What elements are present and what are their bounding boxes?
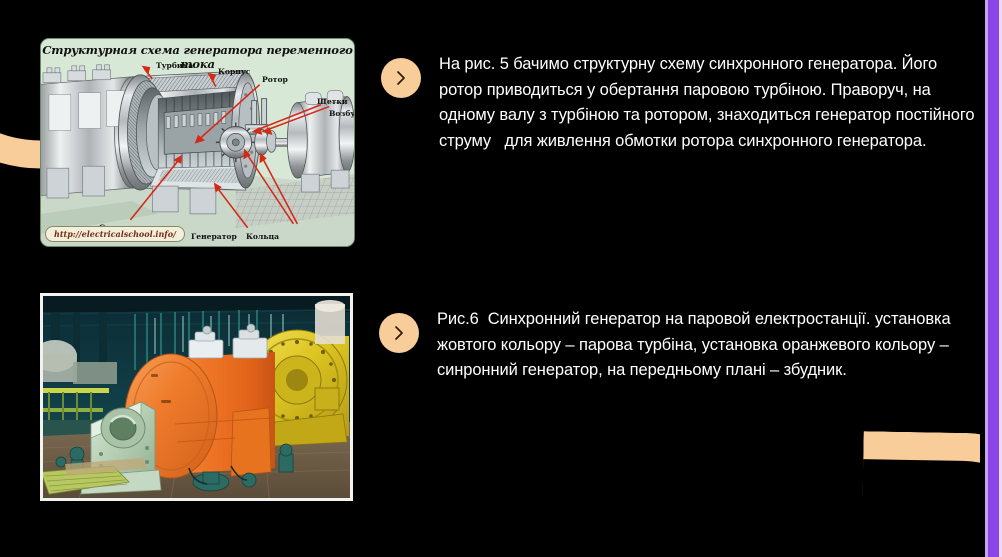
diagram-label-rings: Кольца xyxy=(246,232,279,241)
diagram-label-generator: Генератор xyxy=(191,232,237,241)
content-block-1: Структурная схема генератора переменного… xyxy=(40,38,984,247)
diagram-title: Структурная схема генератора переменного… xyxy=(41,43,354,71)
vertical-scrollbar[interactable] xyxy=(980,0,1002,557)
chevron-right-icon-2[interactable] xyxy=(379,313,419,353)
chevron-right-icon[interactable] xyxy=(381,58,421,98)
diagram-label-brushes: Щетки xyxy=(317,97,347,106)
paragraph-2: Рис.6 Синхронний генератор на паровой ел… xyxy=(437,307,982,384)
diagram-source-url: http://electricalschool.info/ xyxy=(45,226,185,242)
paragraph-1: На рис. 5 бачимо структурну схему синхро… xyxy=(439,52,984,154)
diagram-label-rotor: Ротор xyxy=(262,75,288,84)
figure-generator-diagram: Структурная схема генератора переменного… xyxy=(40,38,355,247)
scrollbar-thumb[interactable] xyxy=(985,0,999,557)
diagram-label-exciter: Возбудител xyxy=(329,109,355,118)
figure-power-plant-photo xyxy=(40,293,353,501)
content-block-2: Рис.6 Синхронний генератор на паровой ел… xyxy=(40,293,982,501)
diagram-label-turbine: Турбина xyxy=(156,61,193,70)
power-plant-illustration xyxy=(43,296,350,498)
diagram-canvas: Структурная схема генератора переменного… xyxy=(41,39,354,246)
slide-canvas: Структурная схема генератора переменного… xyxy=(0,0,1002,557)
diagram-label-korpus: Корпус xyxy=(218,67,250,76)
